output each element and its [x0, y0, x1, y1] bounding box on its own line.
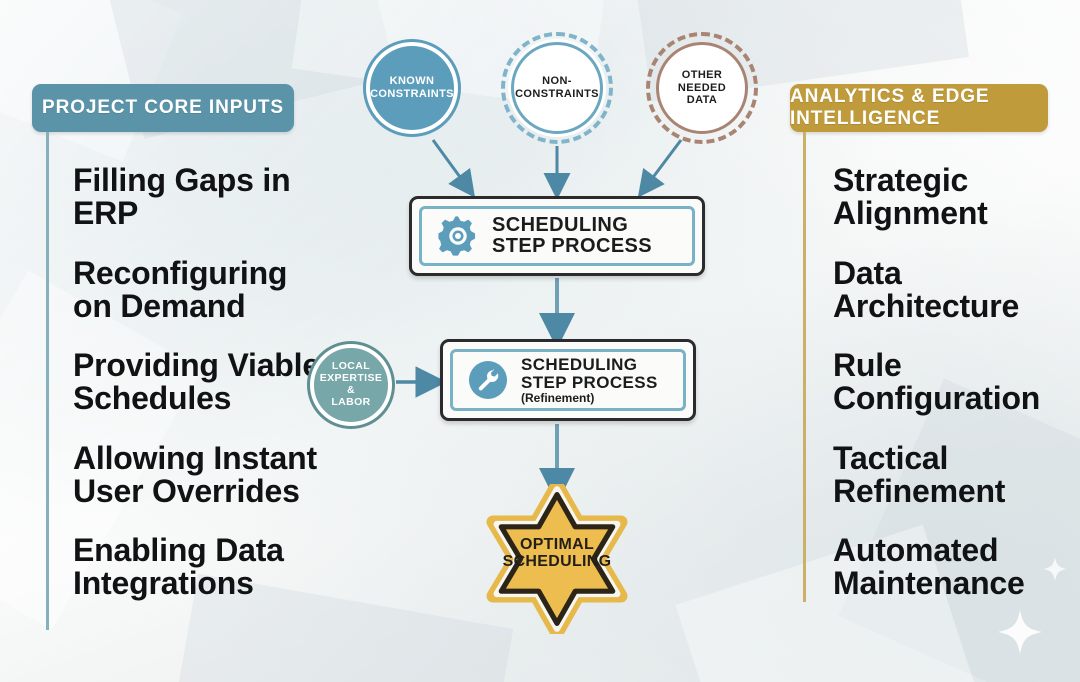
left-column-header-label: PROJECT CORE INPUTS — [42, 97, 284, 119]
list-item: Allowing Instant User Overrides — [73, 442, 363, 509]
list-item: Tactical Refinement — [833, 442, 1080, 509]
left-column-header: PROJECT CORE INPUTS — [32, 84, 294, 132]
list-item-line: Enabling Data — [73, 534, 363, 567]
wrench-glyph — [476, 368, 500, 392]
list-item: Data Architecture — [833, 257, 1080, 324]
input-node-non-constraints[interactable]: NON- CONSTRAINTS — [511, 42, 603, 134]
input-node-line: NON- — [515, 75, 599, 88]
input-node-line: CONSTRAINTS — [515, 88, 599, 101]
input-node-known-constraints[interactable]: KNOWN CONSTRAINTS — [366, 42, 458, 134]
list-item-line: Filling Gaps in ERP — [73, 164, 363, 231]
list-item-line: Tactical Refinement — [833, 442, 1080, 509]
list-item-line: Integrations — [73, 567, 363, 600]
process-step-line: STEP PROCESS — [521, 374, 658, 392]
list-item-line: Rule Configuration — [833, 349, 1080, 416]
input-node-line: NEEDED DATA — [665, 82, 739, 107]
process-step-line: SCHEDULING — [492, 215, 652, 236]
input-node-line: OTHER — [665, 69, 739, 82]
infographic-canvas: PROJECT CORE INPUTS Filling Gaps in ERP … — [0, 0, 1080, 682]
outcome-line: SCHEDULING — [466, 553, 648, 570]
process-step-sublabel: (Refinement) — [521, 392, 658, 405]
arrow-known-to-step1 — [433, 140, 468, 188]
list-item-line: Automated — [833, 534, 1080, 567]
outcome-label: OPTIMAL SCHEDULING — [466, 536, 648, 571]
list-item-line: Maintenance — [833, 567, 1080, 600]
input-node-line: LABOR — [320, 397, 383, 409]
gear-icon — [438, 216, 478, 256]
input-node-label: KNOWN CONSTRAINTS — [364, 75, 460, 100]
list-item-line: Allowing Instant — [73, 442, 363, 475]
wrench-icon — [469, 361, 507, 399]
list-item: Filling Gaps in ERP — [73, 164, 363, 231]
input-node-other-needed-data[interactable]: OTHER NEEDED DATA — [656, 42, 748, 134]
right-column-list: Strategic Alignment Data Architecture Ru… — [833, 164, 1080, 627]
list-item-line: User Overrides — [73, 475, 363, 508]
right-column-header-label: ANALYTICS & EDGE INTELLIGENCE — [790, 86, 1048, 130]
list-item: Automated Maintenance — [833, 534, 1080, 601]
input-node-label: OTHER NEEDED DATA — [659, 69, 745, 107]
input-node-line: KNOWN — [370, 75, 454, 88]
input-node-line: CONSTRAINTS — [370, 88, 454, 101]
input-node-label: NON- CONSTRAINTS — [509, 75, 605, 100]
list-item-line: on Demand — [73, 290, 363, 323]
input-node-local-expertise-labor[interactable]: LOCAL EXPERTISE & LABOR — [310, 344, 392, 426]
list-item: Rule Configuration — [833, 349, 1080, 416]
outcome-line: OPTIMAL — [466, 536, 648, 553]
right-column-stem — [803, 132, 806, 602]
left-column-stem — [46, 132, 49, 630]
input-node-label: LOCAL EXPERTISE & LABOR — [314, 361, 389, 409]
input-node-line: EXPERTISE & — [320, 373, 383, 397]
list-item: Strategic Alignment — [833, 164, 1080, 231]
list-item-line: Reconfiguring — [73, 257, 363, 290]
list-item: Enabling Data Integrations — [73, 534, 363, 601]
process-step-line: STEP PROCESS — [492, 236, 652, 257]
list-item-line: Strategic Alignment — [833, 164, 1080, 231]
process-step-inner: SCHEDULING STEP PROCESS (Refinement) — [450, 349, 686, 411]
process-step-line: SCHEDULING — [521, 356, 658, 374]
outcome-optimal-scheduling[interactable]: OPTIMAL SCHEDULING — [466, 484, 648, 634]
right-column-header: ANALYTICS & EDGE INTELLIGENCE — [790, 84, 1048, 132]
list-item: Reconfiguring on Demand — [73, 257, 363, 324]
process-step-label: SCHEDULING STEP PROCESS (Refinement) — [521, 356, 658, 405]
process-step-scheduling-1[interactable]: SCHEDULING STEP PROCESS — [409, 196, 705, 276]
process-step-inner: SCHEDULING STEP PROCESS — [419, 206, 695, 266]
arrow-other-to-step1 — [645, 140, 681, 188]
process-step-label: SCHEDULING STEP PROCESS — [492, 215, 652, 257]
process-step-scheduling-2[interactable]: SCHEDULING STEP PROCESS (Refinement) — [440, 339, 696, 421]
list-item-line: Data Architecture — [833, 257, 1080, 324]
